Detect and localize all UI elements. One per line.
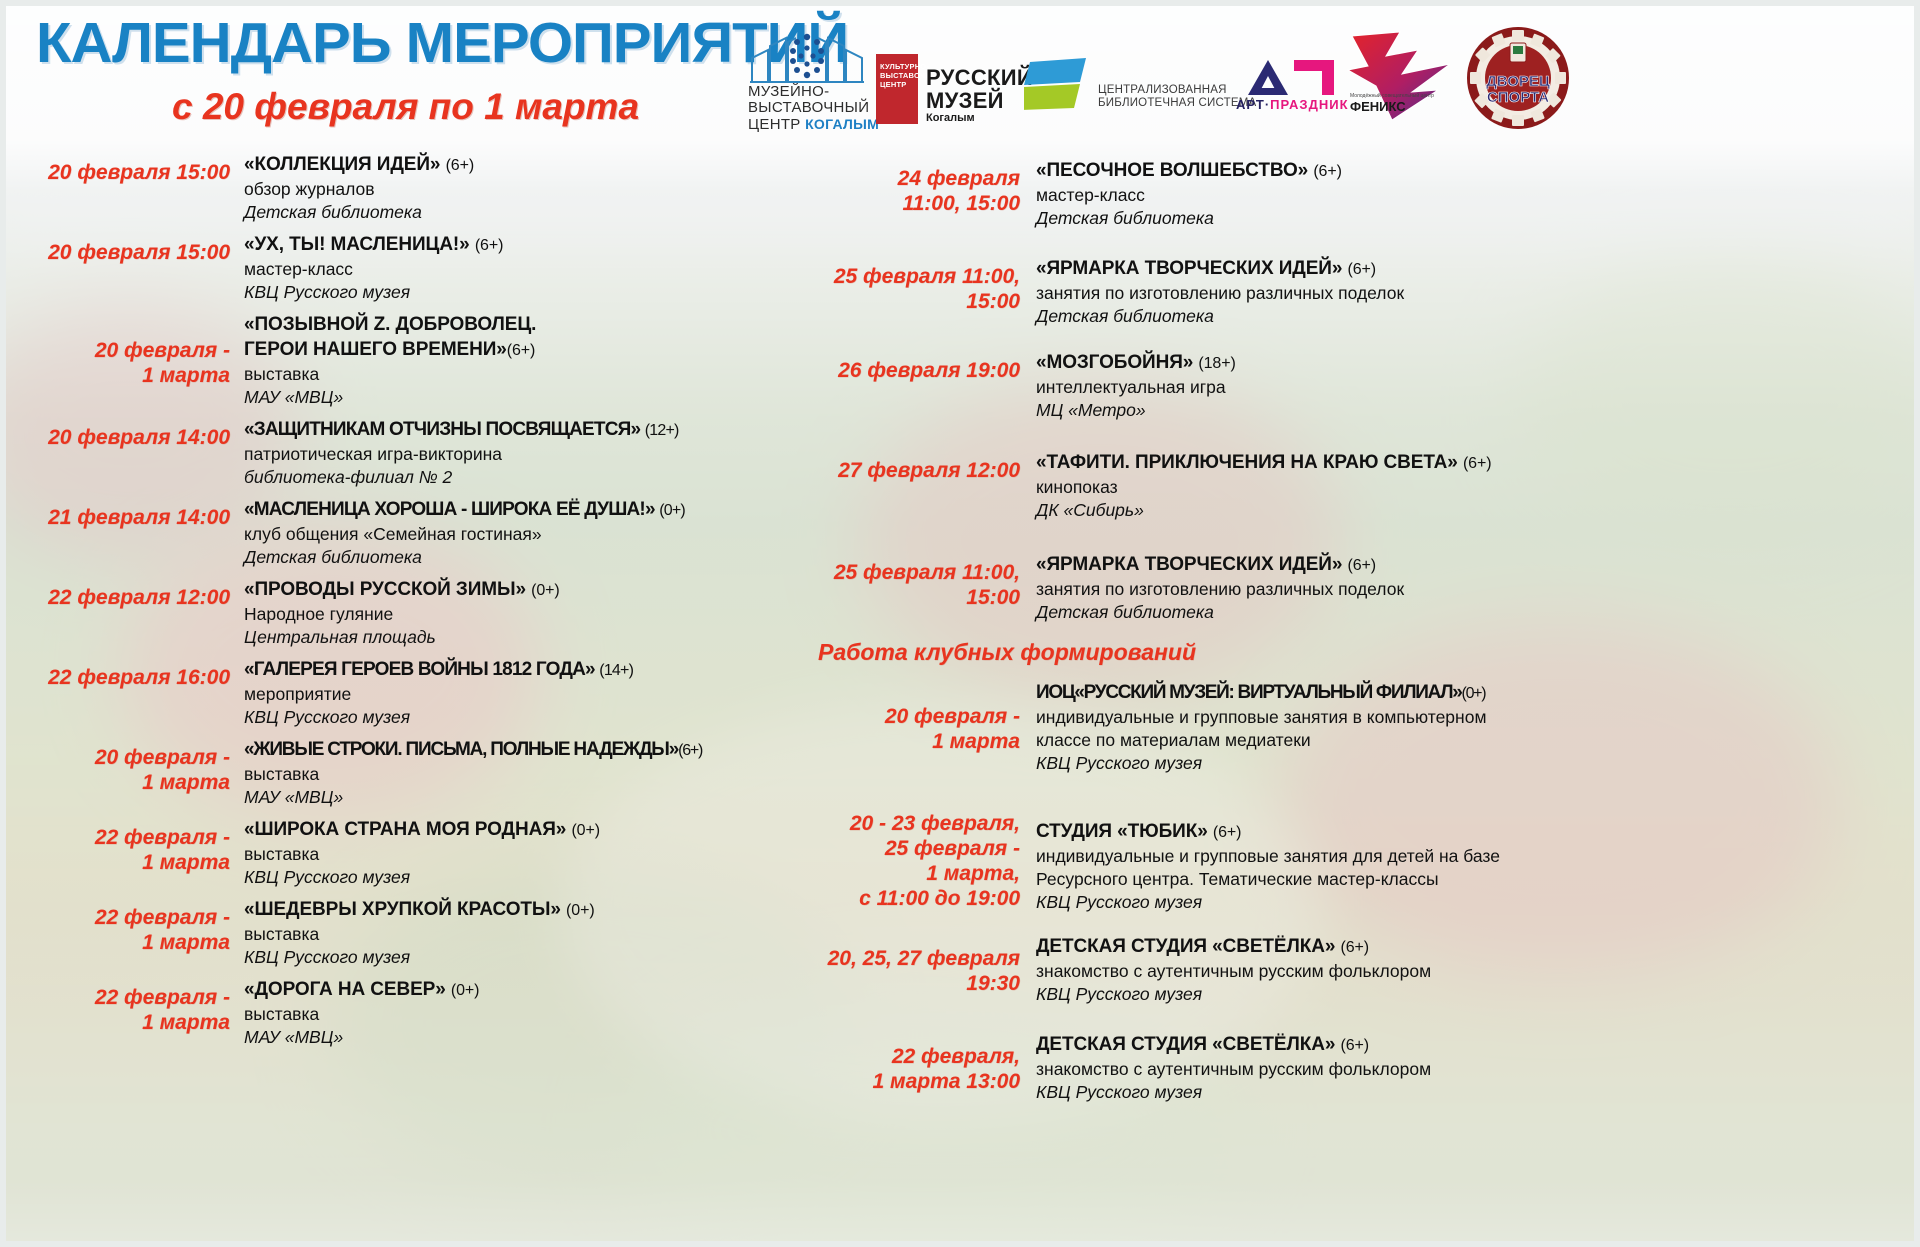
event-title: «ШЕДЕВРЫ ХРУПКОЙ КРАСОТЫ» (0+)	[244, 897, 808, 923]
event-row: 20 февраля - 1 марта «ПОЗЫВНОЙ Z. ДОБРОВ…	[18, 308, 808, 409]
event-row: 22 февраля - 1 марта «ШИРОКА СТРАНА МОЯ …	[18, 813, 808, 889]
logo-line: БИБЛИОТЕЧНАЯ СИСТЕМА	[1098, 97, 1256, 110]
event-datetime: 20 февраля 15:00	[18, 148, 244, 185]
event-kind: Народное гуляние	[244, 603, 808, 626]
club-row: 20 - 23 февраля, 25 февраля - 1 марта, с…	[812, 793, 1908, 914]
event-details: «ЯРМАРКА ТВОРЧЕСКИХ ИДЕЙ» (6+) занятия п…	[1036, 548, 1908, 624]
event-details: «ПОЗЫВНОЙ Z. ДОБРОВОЛЕЦ. ГЕРОИ НАШЕГО ВР…	[244, 308, 808, 409]
event-kind: занятия по изготовлению различных подело…	[1036, 282, 1908, 305]
club-details: ИОЦ«РУССКИЙ МУЗЕЙ: ВИРТУАЛЬНЫЙ ФИЛИАЛ»(0…	[1036, 676, 1908, 775]
event-details: «ШИРОКА СТРАНА МОЯ РОДНАЯ» (0+) выставка…	[244, 813, 808, 889]
logo-line: МУЗЕЙНО-	[748, 84, 879, 100]
event-details: «ГАЛЕРЕЯ ГЕРОЕВ ВОЙНЫ 1812 ГОДА» (14+) м…	[244, 653, 808, 729]
club-datetime: 20 февраля - 1 марта	[812, 676, 1036, 754]
event-place: КВЦ Русского музея	[244, 946, 808, 969]
event-age-rating: (0+)	[531, 582, 560, 599]
event-datetime: 25 февраля 11:00, 15:00	[812, 548, 1036, 610]
event-place: МАУ «МВЦ»	[244, 386, 808, 409]
date-range-subtitle: с 20 февраля по 1 марта	[172, 88, 639, 126]
event-row: 20 февраля - 1 марта «ЖИВЫЕ СТРОКИ. ПИСЬ…	[18, 733, 808, 809]
event-age-rating: (6+)	[1348, 261, 1377, 278]
event-row: 20 февраля 14:00 «ЗАЩИТНИКАМ ОТЧИЗНЫ ПОС…	[18, 413, 808, 489]
event-place: КВЦ Русского музея	[244, 706, 808, 729]
event-title-text: «УХ, ТЫ! МАСЛЕНИЦА!»	[244, 234, 470, 255]
event-title: «ЯРМАРКА ТВОРЧЕСКИХ ИДЕЙ» (6+)	[1036, 256, 1908, 282]
club-title-text: ДЕТСКАЯ СТУДИЯ «СВЕТЁЛКА»	[1036, 936, 1335, 957]
event-datetime: 20 февраля - 1 марта	[18, 308, 244, 388]
logo-line: ВЫСТАВОЧНЫЙ	[748, 100, 879, 116]
event-title: «ШИРОКА СТРАНА МОЯ РОДНАЯ» (0+)	[244, 817, 808, 843]
event-kind: интеллектуальная игра	[1036, 376, 1908, 399]
logo-strip: МУЗЕЙНО- ВЫСТАВОЧНЫЙ ЦЕНТР КОГАЛЫМ КУЛЬТ…	[748, 14, 1908, 134]
club-kind: знакомство с аутентичным русским фолькло…	[1036, 1058, 1908, 1081]
club-title-text: ИОЦ«РУССКИЙ МУЗЕЙ: ВИРТУАЛЬНЫЙ ФИЛИАЛ»	[1036, 682, 1462, 703]
event-title: «МАСЛЕНИЦА ХОРОША - ШИРОКА ЕЁ ДУША!» (0+…	[244, 497, 808, 523]
event-place: КВЦ Русского музея	[244, 866, 808, 889]
event-place: МЦ «Метро»	[1036, 399, 1908, 422]
event-title: «МОЗГОБОЙНЯ» (18+)	[1036, 350, 1908, 376]
art-prazdnik-icon	[1246, 58, 1338, 94]
club-place: КВЦ Русского музея	[1036, 1081, 1908, 1104]
event-title-text: «ЯРМАРКА ТВОРЧЕСКИХ ИДЕЙ»	[1036, 554, 1342, 575]
event-age-rating: (6+)	[475, 237, 504, 254]
svg-text:ДВОРЕЦ: ДВОРЕЦ	[1486, 73, 1550, 90]
event-details: «ПРОВОДЫ РУССКОЙ ЗИМЫ» (0+) Народное гул…	[244, 573, 808, 649]
logo-sport-palace: ДВОРЕЦ СПОРТА	[1466, 26, 1570, 130]
event-kind: мероприятие	[244, 683, 808, 706]
poster-header: КАЛЕНДАРЬ МЕРОПРИЯТИЙ с 20 февраля по 1 …	[0, 0, 1920, 150]
event-title: «УХ, ТЫ! МАСЛЕНИЦА!» (6+)	[244, 232, 808, 258]
logo-line: АРТ·	[1236, 97, 1270, 112]
event-age-rating: (0+)	[566, 902, 595, 919]
left-events-column: 20 февраля 15:00 «КОЛЛЕКЦИЯ ИДЕЙ» (6+) о…	[18, 148, 808, 1053]
event-datetime: 21 февраля 14:00	[18, 493, 244, 530]
event-row: 22 февраля - 1 марта «ДОРОГА НА СЕВЕР» (…	[18, 973, 808, 1049]
event-place: МАУ «МВЦ»	[244, 786, 808, 809]
event-kind: выставка	[244, 1003, 808, 1026]
event-title-text: «ПЕСОЧНОЕ ВОЛШЕБСТВО»	[1036, 160, 1308, 181]
event-calendar-poster: КАЛЕНДАРЬ МЕРОПРИЯТИЙ с 20 февраля по 1 …	[0, 0, 1920, 1247]
event-title-text: «ПОЗЫВНОЙ Z. ДОБРОВОЛЕЦ. ГЕРОИ НАШЕГО ВР…	[244, 314, 536, 360]
logo-line: ПРАЗДНИК	[1270, 97, 1348, 112]
club-place: КВЦ Русского музея	[1036, 983, 1908, 1006]
event-row: 27 февраля 12:00 «ТАФИТИ. ПРИКЛЮЧЕНИЯ НА…	[812, 446, 1908, 522]
event-datetime: 20 февраля - 1 марта	[18, 733, 244, 795]
logo-line: МУЗЕЙ	[926, 89, 1033, 112]
event-place: Детская библиотека	[1036, 207, 1908, 230]
event-title-text: «ТАФИТИ. ПРИКЛЮЧЕНИЯ НА КРАЮ СВЕТА»	[1036, 452, 1458, 473]
event-age-rating: (14+)	[599, 662, 633, 679]
club-title: ИОЦ«РУССКИЙ МУЗЕЙ: ВИРТУАЛЬНЫЙ ФИЛИАЛ»(0…	[1036, 680, 1908, 706]
logo-city: КОГАЛЫМ	[805, 116, 879, 132]
event-row: 21 февраля 14:00 «МАСЛЕНИЦА ХОРОША - ШИР…	[18, 493, 808, 569]
event-details: «ЗАЩИТНИКАМ ОТЧИЗНЫ ПОСВЯЩАЕТСЯ» (12+) п…	[244, 413, 808, 489]
event-place: МАУ «МВЦ»	[244, 1026, 808, 1049]
event-kind: выставка	[244, 363, 808, 386]
club-age-rating: (6+)	[1341, 939, 1370, 956]
phoenix-caption: Молодёжный совещательный центр ФЕНИКС	[1350, 93, 1434, 114]
event-age-rating: (0+)	[571, 822, 600, 839]
event-age-rating: (12+)	[645, 422, 679, 439]
event-place: Детская библиотека	[1036, 305, 1908, 328]
event-title-text: «ПРОВОДЫ РУССКОЙ ЗИМЫ»	[244, 579, 526, 600]
event-datetime: 22 февраля 12:00	[18, 573, 244, 610]
event-title: «ЗАЩИТНИКАМ ОТЧИЗНЫ ПОСВЯЩАЕТСЯ» (12+)	[244, 417, 808, 443]
event-kind: обзор журналов	[244, 178, 808, 201]
event-title: «ПЕСОЧНОЕ ВОЛШЕБСТВО» (6+)	[1036, 158, 1908, 184]
event-datetime: 20 февраля 14:00	[18, 413, 244, 450]
event-row: 22 февраля 16:00 «ГАЛЕРЕЯ ГЕРОЕВ ВОЙНЫ 1…	[18, 653, 808, 729]
logo-phoenix: Молодёжный совещательный центр ФЕНИКС	[1346, 30, 1454, 122]
club-kind: знакомство с аутентичным русским фолькло…	[1036, 960, 1908, 983]
club-details: СТУДИЯ «ТЮБИК» (6+) индивидуальные и гру…	[1036, 793, 1908, 914]
library-pages-icon	[1024, 58, 1090, 110]
event-title: «ПОЗЫВНОЙ Z. ДОБРОВОЛЕЦ. ГЕРОИ НАШЕГО ВР…	[244, 314, 536, 360]
event-place: КВЦ Русского музея	[244, 281, 808, 304]
club-datetime: 20, 25, 27 февраля 19:30	[812, 930, 1036, 996]
logo-library-system: ЦЕНТРАЛИЗОВАННАЯ БИБЛИОТЕЧНАЯ СИСТЕМА	[1024, 58, 1256, 110]
event-details: «ШЕДЕВРЫ ХРУПКОЙ КРАСОТЫ» (0+) выставка …	[244, 893, 808, 969]
sport-palace-emblem-icon: ДВОРЕЦ СПОРТА	[1466, 26, 1570, 130]
badge-line: КУЛЬТУРНО-	[880, 62, 914, 71]
badge-line: ВЫСТАВОЧНЫЙ	[880, 71, 914, 80]
event-title: «ПРОВОДЫ РУССКОЙ ЗИМЫ» (0+)	[244, 577, 808, 603]
logo-museum-text: МУЗЕЙНО- ВЫСТАВОЧНЫЙ ЦЕНТР КОГАЛЫМ	[748, 84, 879, 133]
club-age-rating: (6+)	[1213, 824, 1242, 841]
club-place: КВЦ Русского музея	[1036, 752, 1908, 775]
event-age-rating: (6+)	[507, 342, 536, 359]
logo-russian-museum: КУЛЬТУРНО- ВЫСТАВОЧНЫЙ ЦЕНТР РУССКИЙ МУЗ…	[876, 54, 1033, 124]
logo-line: ФЕНИКС	[1350, 99, 1406, 114]
event-details: «МОЗГОБОЙНЯ» (18+) интеллектуальная игра…	[1036, 346, 1908, 422]
russian-museum-badge: КУЛЬТУРНО- ВЫСТАВОЧНЫЙ ЦЕНТР	[876, 54, 918, 124]
event-place: Детская библиотека	[244, 201, 808, 224]
event-title-text: «ЗАЩИТНИКАМ ОТЧИЗНЫ ПОСВЯЩАЕТСЯ»	[244, 419, 640, 440]
club-datetime: 20 - 23 февраля, 25 февраля - 1 марта, с…	[812, 793, 1036, 911]
event-place: библиотека-филиал № 2	[244, 466, 808, 489]
logo-art-prazdnik: АРТ·ПРАЗДНИК	[1236, 58, 1349, 112]
event-place: Центральная площадь	[244, 626, 808, 649]
event-age-rating: (0+)	[451, 982, 480, 999]
club-row: 20 февраля - 1 марта ИОЦ«РУССКИЙ МУЗЕЙ: …	[812, 676, 1908, 775]
club-details: ДЕТСКАЯ СТУДИЯ «СВЕТЁЛКА» (6+) знакомств…	[1036, 1028, 1908, 1104]
event-age-rating: (6+)	[1463, 455, 1492, 472]
event-row: 25 февраля 11:00, 15:00 «ЯРМАРКА ТВОРЧЕС…	[812, 548, 1908, 624]
event-title-text: «ГАЛЕРЕЯ ГЕРОЕВ ВОЙНЫ 1812 ГОДА»	[244, 659, 595, 680]
event-kind: мастер-класс	[244, 258, 808, 281]
svg-text:СПОРТА: СПОРТА	[1487, 89, 1549, 106]
museum-building-icon	[748, 32, 866, 84]
event-title: «ТАФИТИ. ПРИКЛЮЧЕНИЯ НА КРАЮ СВЕТА» (6+)	[1036, 450, 1908, 476]
event-title-text: «ШЕДЕВРЫ ХРУПКОЙ КРАСОТЫ»	[244, 899, 561, 920]
event-kind: выставка	[244, 923, 808, 946]
event-row: 20 февраля 15:00 «УХ, ТЫ! МАСЛЕНИЦА!» (6…	[18, 228, 808, 304]
event-title: «КОЛЛЕКЦИЯ ИДЕЙ» (6+)	[244, 152, 808, 178]
event-kind: выставка	[244, 763, 808, 786]
event-place: Детская библиотека	[1036, 601, 1908, 624]
event-datetime: 25 февраля 11:00, 15:00	[812, 252, 1036, 314]
event-kind: занятия по изготовлению различных подело…	[1036, 578, 1908, 601]
event-age-rating: (18+)	[1198, 355, 1235, 372]
event-title: «ЯРМАРКА ТВОРЧЕСКИХ ИДЕЙ» (6+)	[1036, 552, 1908, 578]
event-title-text: «МОЗГОБОЙНЯ»	[1036, 352, 1193, 373]
event-row: 24 февраля 11:00, 15:00 «ПЕСОЧНОЕ ВОЛШЕБ…	[812, 154, 1908, 230]
art-prazdnik-text: АРТ·ПРАЗДНИК	[1236, 97, 1349, 112]
event-age-rating: (0+)	[659, 502, 685, 519]
event-title-text: «КОЛЛЕКЦИЯ ИДЕЙ»	[244, 154, 440, 175]
club-kind: индивидуальные и групповые занятия в ком…	[1036, 706, 1908, 752]
event-details: «ТАФИТИ. ПРИКЛЮЧЕНИЯ НА КРАЮ СВЕТА» (6+)…	[1036, 446, 1908, 522]
badge-line: ЦЕНТР	[880, 80, 914, 89]
club-age-rating: (0+)	[1462, 685, 1486, 702]
event-title-text: «ШИРОКА СТРАНА МОЯ РОДНАЯ»	[244, 819, 566, 840]
event-title-text: «МАСЛЕНИЦА ХОРОША - ШИРОКА ЕЁ ДУША!»	[244, 499, 655, 520]
club-title: СТУДИЯ «ТЮБИК» (6+)	[1036, 819, 1908, 845]
page-title: КАЛЕНДАРЬ МЕРОПРИЯТИЙ	[36, 14, 848, 72]
event-datetime: 22 февраля 16:00	[18, 653, 244, 690]
event-age-rating: (6+)	[678, 742, 702, 759]
event-details: «ДОРОГА НА СЕВЕР» (0+) выставка МАУ «МВЦ…	[244, 973, 808, 1049]
event-title-text: «ДОРОГА НА СЕВЕР»	[244, 979, 446, 1000]
event-details: «ЯРМАРКА ТВОРЧЕСКИХ ИДЕЙ» (6+) занятия п…	[1036, 252, 1908, 328]
club-details: ДЕТСКАЯ СТУДИЯ «СВЕТЁЛКА» (6+) знакомств…	[1036, 930, 1908, 1006]
event-details: «МАСЛЕНИЦА ХОРОША - ШИРОКА ЕЁ ДУША!» (0+…	[244, 493, 808, 569]
event-kind: выставка	[244, 843, 808, 866]
event-row: 20 февраля 15:00 «КОЛЛЕКЦИЯ ИДЕЙ» (6+) о…	[18, 148, 808, 224]
club-age-rating: (6+)	[1341, 1037, 1370, 1054]
club-title: ДЕТСКАЯ СТУДИЯ «СВЕТЁЛКА» (6+)	[1036, 1032, 1908, 1058]
event-datetime: 26 февраля 19:00	[812, 346, 1036, 383]
event-datetime: 24 февраля 11:00, 15:00	[812, 154, 1036, 216]
logo-line: ЦЕНТРАЛИЗОВАННАЯ	[1098, 84, 1256, 97]
event-age-rating: (6+)	[1313, 163, 1342, 180]
event-datetime: 27 февраля 12:00	[812, 446, 1036, 483]
club-kind: индивидуальные и групповые занятия для д…	[1036, 845, 1908, 891]
event-details: «УХ, ТЫ! МАСЛЕНИЦА!» (6+) мастер-класс К…	[244, 228, 808, 304]
event-kind: патриотическая игра-викторина	[244, 443, 808, 466]
event-details: «КОЛЛЕКЦИЯ ИДЕЙ» (6+) обзор журналов Дет…	[244, 148, 808, 224]
event-row: 25 февраля 11:00, 15:00 «ЯРМАРКА ТВОРЧЕС…	[812, 252, 1908, 328]
event-row: 22 февраля - 1 марта «ШЕДЕВРЫ ХРУПКОЙ КР…	[18, 893, 808, 969]
event-details: «ПЕСОЧНОЕ ВОЛШЕБСТВО» (6+) мастер-класс …	[1036, 154, 1908, 230]
event-datetime: 20 февраля 15:00	[18, 228, 244, 265]
russian-museum-text: РУССКИЙ МУЗЕЙ Когалым	[926, 66, 1033, 124]
club-row: 22 февраля, 1 марта 13:00 ДЕТСКАЯ СТУДИЯ…	[812, 1028, 1908, 1104]
club-title-text: ДЕТСКАЯ СТУДИЯ «СВЕТЁЛКА»	[1036, 1034, 1335, 1055]
event-datetime: 22 февраля - 1 марта	[18, 973, 244, 1035]
event-kind: кинопоказ	[1036, 476, 1908, 499]
event-kind: клуб общения «Семейная гостиная»	[244, 523, 808, 546]
event-datetime: 22 февраля - 1 марта	[18, 813, 244, 875]
event-place: ДК «Сибирь»	[1036, 499, 1908, 522]
clubs-section-heading: Работа клубных формирований	[812, 638, 1908, 666]
library-system-text: ЦЕНТРАЛИЗОВАННАЯ БИБЛИОТЕЧНАЯ СИСТЕМА	[1098, 84, 1256, 110]
logo-line: РУССКИЙ	[926, 66, 1033, 89]
event-place: Детская библиотека	[244, 546, 808, 569]
club-datetime: 22 февраля, 1 марта 13:00	[812, 1028, 1036, 1094]
logo-city: Когалым	[926, 112, 1033, 124]
event-title: «ЖИВЫЕ СТРОКИ. ПИСЬМА, ПОЛНЫЕ НАДЕЖДЫ»(6…	[244, 737, 808, 763]
event-title: «ГАЛЕРЕЯ ГЕРОЕВ ВОЙНЫ 1812 ГОДА» (14+)	[244, 657, 808, 683]
logo-museum-exhibition-center: МУЗЕЙНО- ВЫСТАВОЧНЫЙ ЦЕНТР КОГАЛЫМ	[748, 32, 879, 133]
event-row: 26 февраля 19:00 «МОЗГОБОЙНЯ» (18+) инте…	[812, 346, 1908, 422]
club-place: КВЦ Русского музея	[1036, 891, 1908, 914]
event-row: 22 февраля 12:00 «ПРОВОДЫ РУССКОЙ ЗИМЫ» …	[18, 573, 808, 649]
event-title: «ДОРОГА НА СЕВЕР» (0+)	[244, 977, 808, 1003]
logo-line: ЦЕНТР	[748, 116, 801, 133]
club-title-text: СТУДИЯ «ТЮБИК»	[1036, 821, 1208, 842]
event-age-rating: (6+)	[1348, 557, 1377, 574]
event-age-rating: (6+)	[446, 157, 475, 174]
event-kind: мастер-класс	[1036, 184, 1908, 207]
club-row: 20, 25, 27 февраля 19:30 ДЕТСКАЯ СТУДИЯ …	[812, 930, 1908, 1006]
event-title-text: «ЖИВЫЕ СТРОКИ. ПИСЬМА, ПОЛНЫЕ НАДЕЖДЫ»	[244, 739, 678, 760]
phoenix-bird-icon: Молодёжный совещательный центр ФЕНИКС	[1346, 30, 1454, 122]
event-datetime: 22 февраля - 1 марта	[18, 893, 244, 955]
event-details: «ЖИВЫЕ СТРОКИ. ПИСЬМА, ПОЛНЫЕ НАДЕЖДЫ»(6…	[244, 733, 808, 809]
right-events-column: 24 февраля 11:00, 15:00 «ПЕСОЧНОЕ ВОЛШЕБ…	[812, 148, 1908, 1108]
event-title-text: «ЯРМАРКА ТВОРЧЕСКИХ ИДЕЙ»	[1036, 258, 1342, 279]
club-title: ДЕТСКАЯ СТУДИЯ «СВЕТЁЛКА» (6+)	[1036, 934, 1908, 960]
